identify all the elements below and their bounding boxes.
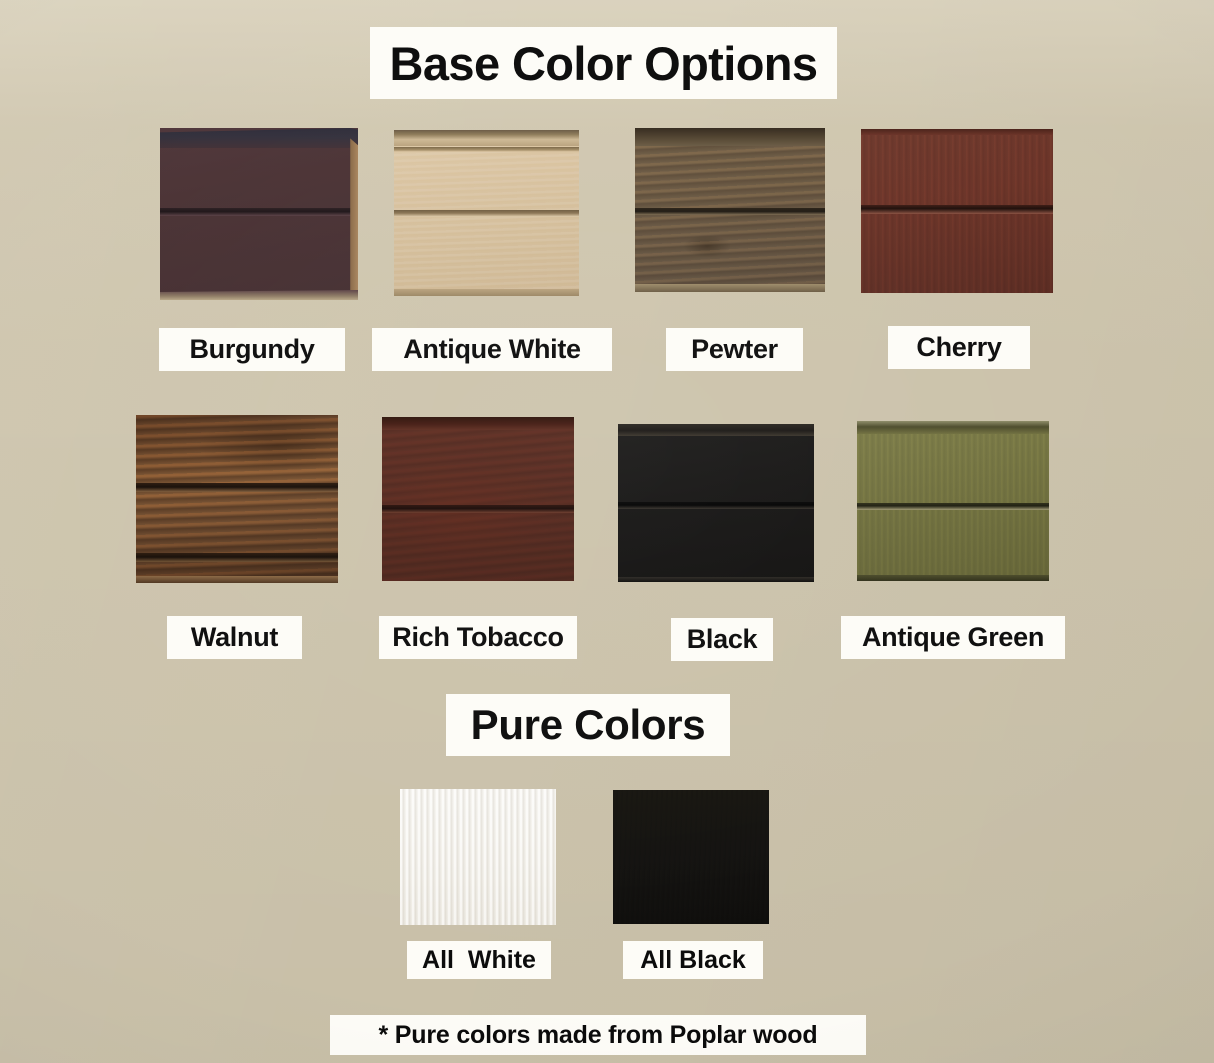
- swatch-burgundy[interactable]: [160, 128, 358, 300]
- swatch-antique-white[interactable]: [394, 130, 579, 296]
- swatch-antique-green-face: [857, 421, 1049, 581]
- page-title: Base Color Options: [370, 27, 837, 99]
- swatch-cherry-face: [861, 129, 1053, 293]
- swatch-all-white[interactable]: [400, 789, 556, 925]
- swatch-all-white-face: [400, 789, 556, 925]
- swatch-all-black[interactable]: [613, 790, 769, 924]
- color-options-page: Base Color Options Burgundy Antique Whit…: [0, 0, 1214, 1063]
- swatch-label-black: Black: [671, 618, 773, 661]
- swatch-label-cherry: Cherry: [888, 326, 1030, 369]
- pure-colors-footnote: * Pure colors made from Poplar wood: [330, 1015, 866, 1055]
- swatch-walnut-face: [136, 415, 338, 583]
- swatch-rich-tobacco-face: [382, 417, 574, 581]
- swatch-black[interactable]: [618, 424, 814, 582]
- swatch-black-face: [618, 424, 814, 582]
- swatch-burgundy-face: [160, 128, 358, 300]
- swatch-rich-tobacco[interactable]: [382, 417, 574, 581]
- pure-colors-heading: Pure Colors: [446, 694, 730, 756]
- swatch-antique-white-face: [394, 130, 579, 296]
- swatch-label-all-black: All Black: [623, 941, 763, 979]
- swatch-label-walnut: Walnut: [167, 616, 302, 659]
- swatch-pewter-face: [635, 128, 825, 292]
- swatch-pewter[interactable]: [635, 128, 825, 292]
- swatch-all-black-face: [613, 790, 769, 924]
- swatch-label-rich-tobacco: Rich Tobacco: [379, 616, 577, 659]
- swatch-antique-green[interactable]: [857, 421, 1049, 581]
- swatch-label-antique-green: Antique Green: [841, 616, 1065, 659]
- swatch-cherry[interactable]: [861, 129, 1053, 293]
- swatch-label-pewter: Pewter: [666, 328, 803, 371]
- swatch-label-burgundy: Burgundy: [159, 328, 345, 371]
- swatch-label-antique-white: Antique White: [372, 328, 612, 371]
- swatch-walnut[interactable]: [136, 415, 338, 583]
- swatch-label-all-white: All White: [407, 941, 551, 979]
